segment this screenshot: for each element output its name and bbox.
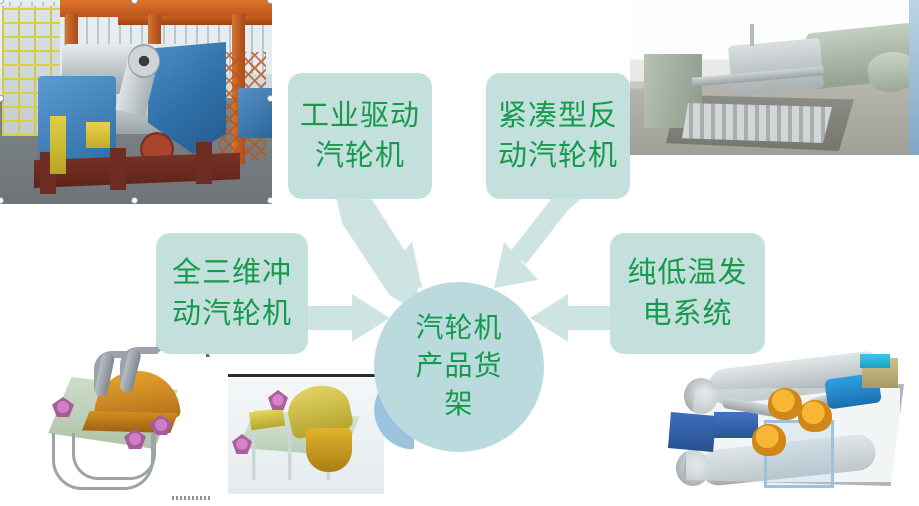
render-turbine-foundation-model: [20, 337, 220, 506]
slide-canvas: 工业驱动汽轮机 紧凑型反动汽轮机 全三维冲动汽轮机 纯低温发电系统 汽轮机产品货…: [0, 0, 919, 506]
generator-cyan-cap: [860, 354, 890, 368]
hub-turbine-product-shelf[interactable]: 汽轮机产品货架: [374, 282, 544, 452]
shaft-lower-casing: [306, 428, 352, 472]
render-top-rule: [228, 374, 386, 377]
node-compact-reaction-turbine[interactable]: 紧凑型反动汽轮机: [486, 73, 630, 199]
render-low-temp-power-unit-model: [660, 350, 919, 506]
render-caption-strip: [172, 496, 212, 500]
plant-vent-stack: [750, 24, 754, 46]
render-turbine-plant-layout: [630, 0, 919, 155]
orange-valve-b: [798, 400, 832, 432]
slide-blue-edge-accent: [909, 0, 919, 155]
node-industrial-drive-turbine[interactable]: 工业驱动汽轮机: [288, 73, 432, 199]
slide-handle-dots: [0, 0, 272, 204]
blue-control-cabinet: [668, 412, 716, 452]
node-label: 纯低温发电系统: [627, 253, 747, 333]
orange-valve-c: [752, 424, 786, 456]
node-label: 工业驱动汽轮机: [300, 96, 420, 176]
node-label: 全三维冲动汽轮机: [172, 253, 292, 333]
node-full-3d-impulse-turbine[interactable]: 全三维冲动汽轮机: [156, 233, 308, 354]
hub-label: 汽轮机产品货架: [415, 310, 502, 424]
plant-auxiliary-skid: [682, 103, 832, 143]
photo-industrial-turbine-factory: [0, 0, 272, 204]
node-low-temperature-power-system[interactable]: 纯低温发电系统: [610, 233, 765, 354]
node-label: 紧凑型反动汽轮机: [498, 96, 618, 176]
blue-side-panel: [714, 412, 758, 438]
orange-valve-a: [768, 388, 802, 420]
condenser-loop-inner: [72, 433, 156, 480]
